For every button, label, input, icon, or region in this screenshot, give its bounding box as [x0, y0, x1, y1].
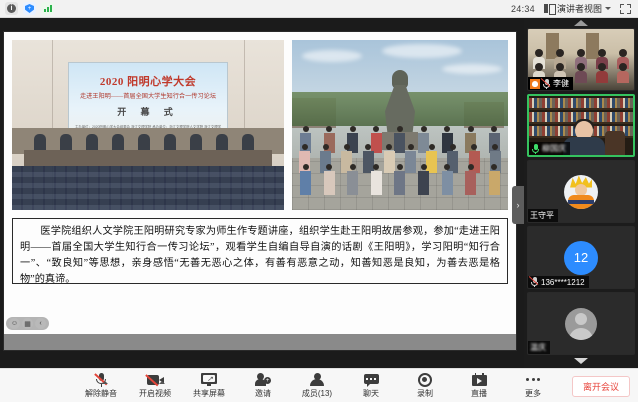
- participant-tile[interactable]: 柳国庆: [527, 94, 635, 157]
- record-button[interactable]: 录制: [398, 372, 452, 399]
- share-screen-label: 共享屏幕: [193, 388, 225, 399]
- participant-name: 李健: [553, 78, 569, 89]
- slide-caption-text: 医学院组织人文学院王阳明研究专家为师生作专题讲座，组织学生赴王阳明故居参观，参加…: [20, 224, 500, 288]
- slide-photo-row: 2020 阳明心学大会 走进王阳明——首届全国大学生知行合一传习论坛 开 幕 式…: [12, 40, 508, 210]
- participant-tile[interactable]: 李健: [527, 28, 635, 91]
- start-video-label: 开启视频: [139, 388, 171, 399]
- participant-tile[interactable]: 温庆: [527, 292, 635, 355]
- invite-person-icon: +: [255, 373, 271, 386]
- chat-bubble-icon: [364, 374, 379, 386]
- shared-screen-stage: 2020 阳明心学大会 走进王阳明——首届全国大学生知行合一传习论坛 开 幕 式…: [0, 18, 524, 368]
- encryption-shield-icon[interactable]: +: [23, 2, 36, 15]
- meeting-timer: 24:34: [511, 4, 535, 14]
- participants-button[interactable]: 成员(13): [290, 372, 344, 399]
- unmute-button[interactable]: 解除静音: [74, 372, 128, 399]
- speaker-view-icon: [544, 4, 554, 13]
- chevron-down-icon: [605, 7, 611, 10]
- more-label: 更多: [525, 388, 541, 399]
- audio-options-chevron-icon[interactable]: [102, 381, 108, 384]
- view-mode-dropdown[interactable]: 演讲者视图: [544, 2, 611, 15]
- statue: [385, 70, 415, 132]
- meeting-top-bar: i + 24:34 演讲者视图: [0, 0, 638, 18]
- start-video-button[interactable]: 开启视频: [128, 372, 182, 399]
- collapse-sidebar-button[interactable]: ›: [512, 186, 524, 224]
- chat-label: 聊天: [363, 388, 379, 399]
- participant-name: 温庆: [530, 342, 546, 353]
- microphone-unmuted-icon: [531, 144, 540, 154]
- slide-floating-toolbar[interactable]: ☺ ▦ ‹: [6, 317, 49, 330]
- network-quality-icon[interactable]: [41, 2, 54, 15]
- microphone-muted-icon: [530, 277, 539, 287]
- more-button[interactable]: 更多: [506, 372, 560, 399]
- photo-people-row: [294, 164, 506, 195]
- view-mode-label: 演讲者视图: [557, 2, 602, 15]
- host-badge-icon: [530, 79, 540, 89]
- scroll-down-arrow-icon[interactable]: [574, 358, 588, 364]
- banner-event: 开 幕 式: [69, 105, 227, 118]
- info-icon[interactable]: i: [5, 2, 18, 15]
- top-bar-right-controls: 24:34 演讲者视图: [511, 2, 638, 15]
- more-dots-icon: [526, 378, 540, 381]
- top-bar-status-icons: i +: [0, 2, 54, 15]
- fullscreen-icon[interactable]: [620, 4, 631, 14]
- invite-button[interactable]: + 邀请: [236, 372, 290, 399]
- initials-avatar: 12: [564, 241, 598, 275]
- record-icon: [418, 373, 432, 387]
- participant-name-chip: 王守平: [528, 209, 558, 222]
- participant-video-sidebar[interactable]: 李健 柳国庆: [524, 18, 638, 368]
- annotate-icon[interactable]: ▦: [22, 318, 33, 329]
- live-broadcast-icon: [472, 373, 487, 386]
- default-person-avatar-icon: [565, 308, 597, 340]
- invite-label: 邀请: [255, 388, 271, 399]
- shared-slide: 2020 阳明心学大会 走进王阳明——首届全国大学生知行合一传习论坛 开 幕 式…: [4, 32, 516, 350]
- unmute-label: 解除静音: [85, 388, 117, 399]
- live-label: 直播: [471, 388, 487, 399]
- participant-name-chip: 柳国庆: [529, 142, 570, 155]
- live-broadcast-button[interactable]: 直播: [452, 372, 506, 399]
- meeting-controls-toolbar: 解除静音 开启视频 ↗ 共享屏幕: [0, 368, 638, 402]
- banner-title: 2020 阳明心学大会: [69, 73, 227, 89]
- participant-name-chip: 李健: [528, 77, 573, 90]
- banner-subtitle: 走进王阳明——首届全国大学生知行合一传习论坛: [69, 91, 227, 100]
- conference-hall-photo: 2020 阳明心学大会 走进王阳明——首届全国大学生知行合一传习论坛 开 幕 式…: [12, 40, 284, 210]
- participant-tile[interactable]: 12 136****1212: [527, 226, 635, 289]
- cartoon-avatar-icon: [564, 175, 598, 209]
- zoom-meeting-window: i + 24:34 演讲者视图: [0, 0, 638, 402]
- participant-name: 柳国庆: [542, 143, 566, 154]
- record-label: 录制: [417, 388, 433, 399]
- leave-meeting-button[interactable]: 离开会议: [572, 376, 630, 397]
- slide-bottom-bar: [4, 334, 516, 350]
- participants-label: 成员(13): [302, 388, 332, 399]
- emoji-icon[interactable]: ☺: [9, 318, 20, 329]
- microphone-muted-icon: [542, 79, 551, 89]
- share-screen-button[interactable]: ↗ 共享屏幕: [182, 372, 236, 399]
- scroll-up-arrow-icon[interactable]: [574, 20, 588, 26]
- participant-name-chip: 136****1212: [528, 276, 589, 288]
- video-options-chevron-icon[interactable]: [159, 381, 165, 384]
- microphone-muted-icon: [96, 373, 107, 387]
- participant-name-chip: 温庆: [528, 341, 550, 354]
- chat-button[interactable]: 聊天: [344, 372, 398, 399]
- slide-caption: 医学院组织人文学院王阳明研究专家为师生作专题讲座，组织学生赴王阳明故居参观，参加…: [12, 218, 508, 284]
- collapse-icon[interactable]: ‹: [35, 318, 46, 329]
- participant-tile[interactable]: 王守平: [527, 160, 635, 223]
- participant-name: 136****1212: [541, 278, 585, 287]
- group-photo-statue: [292, 40, 508, 210]
- share-screen-icon: ↗: [201, 373, 217, 386]
- participant-name: 王守平: [530, 210, 554, 221]
- participants-icon: [310, 373, 324, 386]
